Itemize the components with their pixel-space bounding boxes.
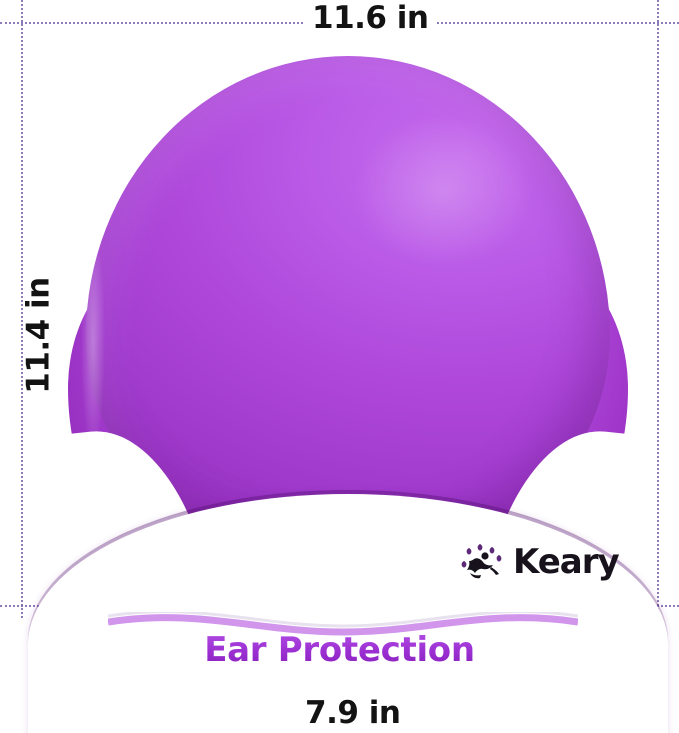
swimmer-splash-icon xyxy=(461,540,507,584)
product-dimension-image: Keary 11.6 in 11.4 in 7.9 in Ear Protect… xyxy=(0,0,679,733)
brand-logo: Keary xyxy=(461,540,619,584)
dimension-label-width: 11.6 in xyxy=(303,3,437,34)
dimension-label-base-width: 7.9 in xyxy=(296,698,409,729)
guide-line-right xyxy=(657,0,659,618)
brand-wordmark: Keary xyxy=(513,545,619,579)
dimension-label-height: 11.4 in xyxy=(24,268,55,402)
feature-caption: Ear Protection xyxy=(0,633,679,667)
swim-cap-image: Keary xyxy=(68,56,628,601)
